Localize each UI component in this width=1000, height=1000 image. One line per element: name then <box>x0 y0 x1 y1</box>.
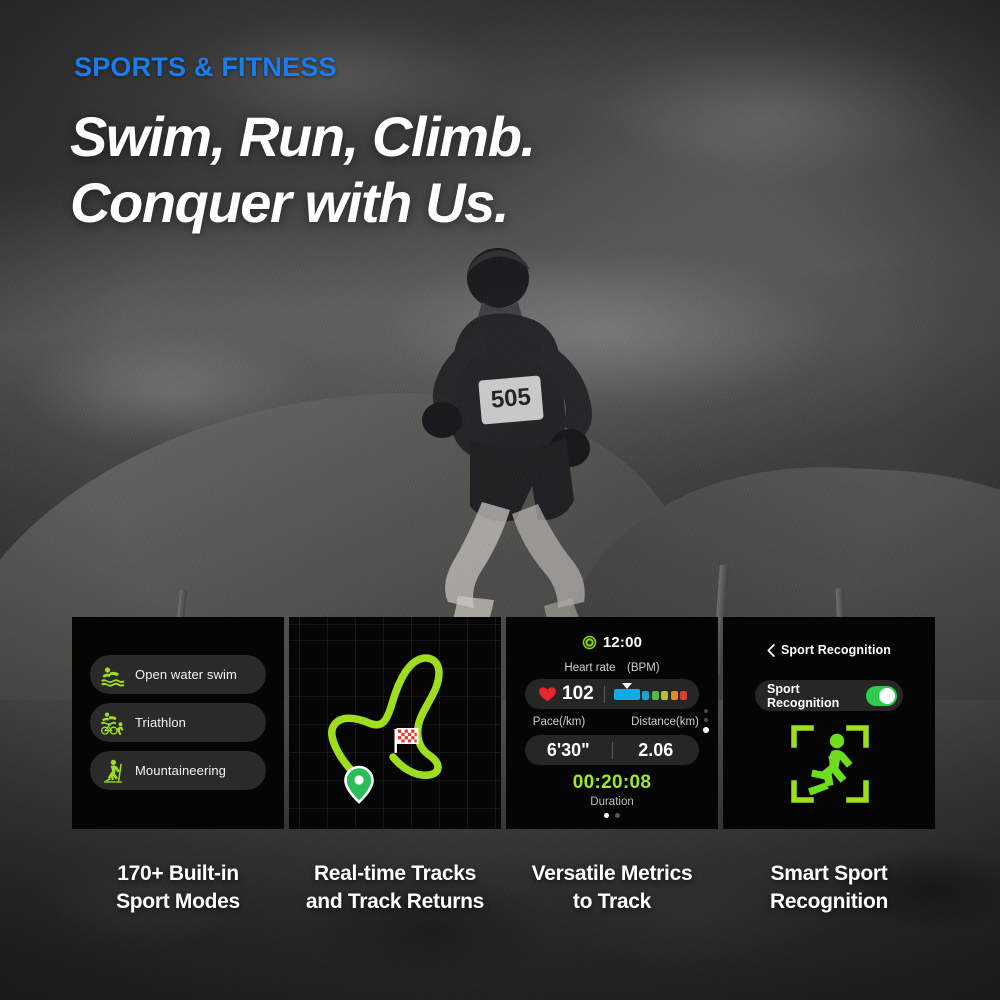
watch-time: 12:00 <box>603 634 642 651</box>
caption-metrics: Versatile Metrics to Track <box>506 860 718 916</box>
heart-rate-pill[interactable]: 102 <box>525 679 699 709</box>
swimmer-icon <box>100 663 126 687</box>
gps-signal-icon <box>582 635 597 650</box>
hr-zone-2 <box>652 691 659 700</box>
card-metrics: 12:00 Heart rate (BPM) 102 <box>506 617 718 829</box>
triathlon-icon <box>100 711 126 735</box>
scroll-dot <box>704 718 708 722</box>
hr-zone-current <box>614 689 640 700</box>
headline-line-1: Swim, Run, Climb. <box>70 104 770 170</box>
caption-line-2: and Track Returns <box>289 888 501 916</box>
sport-mode-label: Mountaineering <box>135 763 226 778</box>
caption-row: 170+ Built-in Sport Modes Real-time Trac… <box>72 860 928 916</box>
pace-label: Pace(/km) <box>506 716 612 728</box>
hr-zone-1 <box>642 691 649 700</box>
pace-value: 6'30" <box>525 740 612 761</box>
heart-rate-value: 102 <box>562 683 594 705</box>
page-title: Swim, Run, Climb. Conquer with Us. <box>70 104 770 235</box>
caption-line-1: Versatile Metrics <box>506 860 718 888</box>
eyebrow-label: SPORTS & FITNESS <box>74 52 337 83</box>
screen-title: Sport Recognition <box>781 643 891 657</box>
pace-distance-pill[interactable]: 6'30" 2.06 <box>525 735 699 765</box>
card-sport-modes: Open water swim <box>72 617 284 829</box>
caption-line-2: to Track <box>506 888 718 916</box>
caption-sport-recognition: Smart Sport Recognition <box>723 860 935 916</box>
card-sport-recognition: Sport Recognition Sport Recognition <box>723 617 935 829</box>
hr-zone-4 <box>671 691 678 700</box>
sport-recognition-toggle-row[interactable]: Sport Recognition <box>755 680 903 711</box>
pill-divider <box>604 686 605 703</box>
running-figure-icon <box>801 733 859 795</box>
caption-sport-modes: 170+ Built-in Sport Modes <box>72 860 284 916</box>
caption-route-track: Real-time Tracks and Track Returns <box>289 860 501 916</box>
hr-zone-3 <box>661 691 668 700</box>
checkered-flag-icon <box>395 728 419 753</box>
caption-line-2: Sport Modes <box>72 888 284 916</box>
vertical-scroll-indicator[interactable] <box>703 709 709 733</box>
sport-mode-item-triathlon[interactable]: Triathlon <box>90 703 266 742</box>
headline-line-2: Conquer with Us. <box>70 170 770 236</box>
toggle-label: Sport Recognition <box>767 682 866 710</box>
toggle-knob <box>879 688 895 704</box>
scroll-dot <box>704 709 708 713</box>
sport-mode-label: Open water swim <box>135 667 237 682</box>
hr-zone-marker <box>622 683 632 689</box>
hr-zone-bar <box>614 689 688 700</box>
feature-card-row: Open water swim <box>72 617 928 829</box>
route-map <box>289 617 501 829</box>
caption-line-1: Smart Sport <box>723 860 935 888</box>
duration-value: 00:20:08 <box>506 772 718 794</box>
caption-line-1: Real-time Tracks <box>289 860 501 888</box>
sport-mode-label: Triathlon <box>135 715 186 730</box>
toggle-switch[interactable] <box>866 686 897 706</box>
sport-mode-item-mountaineering[interactable]: Mountaineering <box>90 751 266 790</box>
heart-rate-label: Heart rate (BPM) <box>506 659 718 675</box>
sport-mode-item-open-water-swim[interactable]: Open water swim <box>90 655 266 694</box>
hr-zone-5 <box>680 691 687 700</box>
screen-header: Sport Recognition <box>723 643 935 657</box>
page-dot-active <box>604 813 609 818</box>
caption-line-1: 170+ Built-in <box>72 860 284 888</box>
card-route-track <box>289 617 501 829</box>
page-dot <box>615 813 620 818</box>
scroll-dot-active <box>703 727 709 733</box>
sport-mode-list: Open water swim <box>90 655 266 790</box>
duration-label: Duration <box>506 796 718 808</box>
back-chevron-icon[interactable] <box>767 644 775 657</box>
watch-status-row: 12:00 <box>506 634 718 651</box>
page-indicator[interactable] <box>506 813 718 818</box>
pace-distance-labels: Pace(/km) Distance(km) <box>506 716 718 728</box>
distance-value: 2.06 <box>613 740 700 761</box>
route-path <box>332 658 439 777</box>
location-pin-icon <box>346 767 373 802</box>
mountaineering-icon <box>100 759 126 783</box>
caption-line-2: Recognition <box>723 888 935 916</box>
heart-icon <box>539 687 556 702</box>
